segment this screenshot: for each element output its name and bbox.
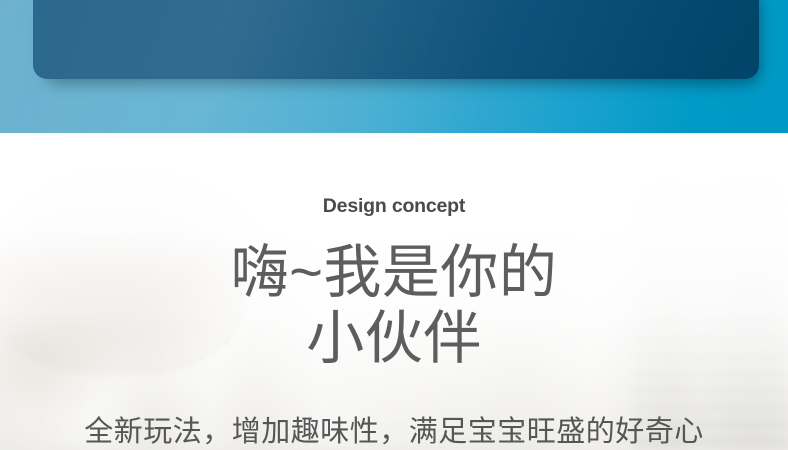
eyebrow-text: Design concept xyxy=(0,195,788,218)
top-banner xyxy=(0,0,788,133)
headline-line-2: 小伙伴 xyxy=(0,306,788,372)
headline-line-1: 嗨~我是你的 xyxy=(0,240,788,306)
navy-panel-gloss xyxy=(33,0,759,79)
headline: 嗨~我是你的 小伙伴 xyxy=(0,240,788,372)
promo-page: Design concept 嗨~我是你的 小伙伴 全新玩法，增加趣味性，满足宝… xyxy=(0,0,788,450)
subtitle-text: 全新玩法，增加趣味性，满足宝宝旺盛的好奇心 xyxy=(0,413,788,450)
hero-content: Design concept 嗨~我是你的 小伙伴 全新玩法，增加趣味性，满足宝… xyxy=(0,133,788,450)
navy-panel xyxy=(33,0,759,79)
